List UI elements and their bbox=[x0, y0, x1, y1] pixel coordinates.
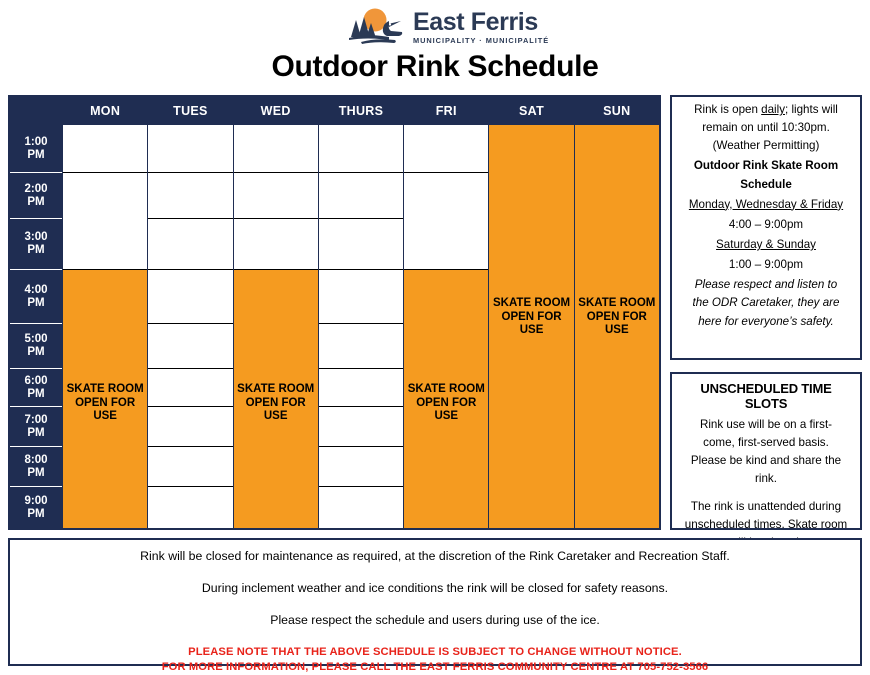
day-column-sun: SUN SKATE ROOM OPEN FOR USE bbox=[574, 97, 659, 528]
time-hour: 2:00 bbox=[24, 183, 47, 196]
time-period: PM bbox=[27, 427, 44, 440]
cell-sat-2pm[interactable] bbox=[489, 173, 573, 219]
cell-sun-5pm[interactable] bbox=[575, 324, 659, 369]
time-period: PM bbox=[27, 149, 44, 162]
time-period: PM bbox=[27, 508, 44, 521]
cell-sat-8pm[interactable] bbox=[489, 447, 573, 487]
day-column-tues: TUES bbox=[147, 97, 232, 528]
footer-note-2: During inclement weather and ice conditi… bbox=[10, 581, 860, 595]
cell-mon-9pm[interactable] bbox=[63, 487, 147, 528]
cell-thurs-2pm[interactable] bbox=[319, 173, 403, 219]
main-content: 1:00 PM 2:00 PM 3:00 PM 4:00 PM 5:00 PM … bbox=[0, 90, 870, 535]
time-slot-2pm: 2:00 PM bbox=[10, 173, 62, 219]
cell-sun-2pm[interactable] bbox=[575, 173, 659, 219]
day-column-sat: SAT SKATE ROOM OPEN FOR USE bbox=[488, 97, 573, 528]
caretaker-note-3: here for everyone’s safety. bbox=[680, 315, 852, 329]
time-hour: 5:00 bbox=[24, 333, 47, 346]
schedule-grid: 1:00 PM 2:00 PM 3:00 PM 4:00 PM 5:00 PM … bbox=[8, 95, 661, 530]
unscheduled-panel-title: UNSCHEDULED TIME SLOTS bbox=[680, 381, 852, 411]
cell-thurs-1pm[interactable] bbox=[319, 125, 403, 173]
day-header-sat: SAT bbox=[489, 97, 573, 125]
cell-wed-4pm[interactable] bbox=[234, 270, 318, 324]
cell-wed-6pm[interactable] bbox=[234, 369, 318, 407]
cell-fri-4pm[interactable] bbox=[404, 270, 488, 324]
cell-tues-4pm[interactable] bbox=[148, 270, 232, 324]
cell-wed-7pm[interactable] bbox=[234, 407, 318, 447]
cell-wed-9pm[interactable] bbox=[234, 487, 318, 528]
cell-sat-7pm[interactable] bbox=[489, 407, 573, 447]
cell-wed-3pm[interactable] bbox=[234, 219, 318, 270]
unscheduled-p2-l1: The rink is unattended during bbox=[680, 500, 852, 514]
day-body-fri: SKATE ROOM OPEN FOR USE bbox=[404, 125, 488, 528]
unscheduled-p1-l2: come, first-served basis. bbox=[680, 436, 852, 450]
time-slot-5pm: 5:00 PM bbox=[10, 324, 62, 369]
logo-wordmark: East Ferris MUNICIPALITY · MUNICIPALITÉ bbox=[413, 10, 549, 44]
cell-thurs-6pm[interactable] bbox=[319, 369, 403, 407]
time-hour: 1:00 bbox=[24, 136, 47, 149]
day-body-thurs bbox=[319, 125, 403, 528]
cell-thurs-5pm[interactable] bbox=[319, 324, 403, 369]
hours-line-3: (Weather Permitting) bbox=[680, 139, 852, 153]
caretaker-note-2: the ODR Caretaker, they are bbox=[680, 296, 852, 310]
cell-sat-1pm[interactable] bbox=[489, 125, 573, 173]
day-header-tues: TUES bbox=[148, 97, 232, 125]
cell-thurs-7pm[interactable] bbox=[319, 407, 403, 447]
time-slot-7pm: 7:00 PM bbox=[10, 407, 62, 447]
cell-wed-8pm[interactable] bbox=[234, 447, 318, 487]
day-body-mon: SKATE ROOM OPEN FOR USE bbox=[63, 125, 147, 528]
time-hour: 7:00 bbox=[24, 414, 47, 427]
day-body-tues bbox=[148, 125, 232, 528]
cell-mon-6pm[interactable] bbox=[63, 369, 147, 407]
cell-mon-4pm[interactable] bbox=[63, 270, 147, 324]
cell-tues-1pm[interactable] bbox=[148, 125, 232, 173]
day-header-fri: FRI bbox=[404, 97, 488, 125]
unscheduled-p1-l4: rink. bbox=[680, 472, 852, 486]
cell-tues-7pm[interactable] bbox=[148, 407, 232, 447]
time-hour: 4:00 bbox=[24, 284, 47, 297]
page-header: East Ferris MUNICIPALITY · MUNICIPALITÉ … bbox=[0, 0, 870, 90]
cell-fri-8pm[interactable] bbox=[404, 447, 488, 487]
weekend-times: 1:00 – 9:00pm bbox=[680, 258, 852, 272]
cell-mon-1pm[interactable] bbox=[63, 125, 147, 173]
cell-mon-8pm[interactable] bbox=[63, 447, 147, 487]
footer-alert-line-1: PLEASE NOTE THAT THE ABOVE SCHEDULE IS S… bbox=[10, 645, 860, 660]
cell-sun-7pm[interactable] bbox=[575, 407, 659, 447]
time-slot-6pm: 6:00 PM bbox=[10, 369, 62, 407]
cell-sun-4pm[interactable] bbox=[575, 270, 659, 324]
cell-thurs-4pm[interactable] bbox=[319, 270, 403, 324]
day-column-wed: WED SKATE ROOM OPEN FOR USE bbox=[233, 97, 318, 528]
time-hour: 6:00 bbox=[24, 375, 47, 388]
cell-sun-3pm[interactable] bbox=[575, 219, 659, 270]
cell-wed-2pm[interactable] bbox=[234, 173, 318, 219]
cell-sun-1pm[interactable] bbox=[575, 125, 659, 173]
hours-line-1: Rink is open daily; lights will bbox=[680, 103, 852, 117]
time-period: PM bbox=[27, 388, 44, 401]
east-ferris-logo: East Ferris MUNICIPALITY · MUNICIPALITÉ bbox=[345, 6, 549, 48]
cell-fri-7pm[interactable] bbox=[404, 407, 488, 447]
time-slot-1pm: 1:00 PM bbox=[10, 125, 62, 173]
time-hour: 8:00 bbox=[24, 454, 47, 467]
cell-tues-3pm[interactable] bbox=[148, 219, 232, 270]
panel-spacer bbox=[680, 493, 852, 500]
cell-fri-2pm[interactable] bbox=[404, 173, 488, 219]
mwf-days-label: Monday, Wednesday & Friday bbox=[680, 198, 852, 212]
hours-line-2: remain on until 10:30pm. bbox=[680, 121, 852, 135]
time-slot-9pm: 9:00 PM bbox=[10, 487, 62, 528]
footer-note-3: Please respect the schedule and users du… bbox=[10, 613, 860, 627]
time-hour: 9:00 bbox=[24, 495, 47, 508]
skate-room-subtitle-1: Outdoor Rink Skate Room bbox=[680, 159, 852, 173]
time-period: PM bbox=[27, 297, 44, 310]
logo-name: East Ferris bbox=[413, 10, 549, 35]
cell-tues-9pm[interactable] bbox=[148, 487, 232, 528]
cell-tues-5pm[interactable] bbox=[148, 324, 232, 369]
weekend-days-label: Saturday & Sunday bbox=[680, 238, 852, 252]
time-slot-8pm: 8:00 PM bbox=[10, 447, 62, 487]
time-period: PM bbox=[27, 196, 44, 209]
loon-sun-trees-logo-icon bbox=[345, 7, 407, 47]
cell-tues-2pm[interactable] bbox=[148, 173, 232, 219]
logo-subtitle: MUNICIPALITY · MUNICIPALITÉ bbox=[413, 37, 549, 44]
cell-thurs-8pm[interactable] bbox=[319, 447, 403, 487]
cell-sat-5pm[interactable] bbox=[489, 324, 573, 369]
grid-corner-cell bbox=[10, 97, 62, 125]
rink-hours-panel: Rink is open daily; lights will remain o… bbox=[670, 95, 862, 360]
cell-fri-6pm[interactable] bbox=[404, 369, 488, 407]
cell-sun-8pm[interactable] bbox=[575, 447, 659, 487]
cell-wed-5pm[interactable] bbox=[234, 324, 318, 369]
day-header-sun: SUN bbox=[575, 97, 659, 125]
cell-mon-2pm[interactable] bbox=[63, 173, 147, 219]
cell-thurs-9pm[interactable] bbox=[319, 487, 403, 528]
page-title: Outdoor Rink Schedule bbox=[0, 50, 870, 84]
cell-mon-3pm[interactable] bbox=[63, 219, 147, 270]
footer-note-1: Rink will be closed for maintenance as r… bbox=[10, 549, 860, 563]
cell-fri-3pm[interactable] bbox=[404, 219, 488, 270]
cell-sat-6pm[interactable] bbox=[489, 369, 573, 407]
caretaker-note-1: Please respect and listen to bbox=[680, 278, 852, 292]
time-hour: 3:00 bbox=[24, 231, 47, 244]
day-header-thurs: THURS bbox=[319, 97, 403, 125]
footer-notes-panel: Rink will be closed for maintenance as r… bbox=[8, 538, 862, 666]
hours-line-1-b: ; lights will bbox=[785, 103, 838, 116]
day-column-mon: MON SKATE ROOM OPEN FOR USE bbox=[62, 97, 147, 528]
time-period: PM bbox=[27, 244, 44, 257]
day-header-mon: MON bbox=[63, 97, 147, 125]
time-slot-3pm: 3:00 PM bbox=[10, 219, 62, 270]
day-column-fri: FRI SKATE ROOM OPEN FOR USE bbox=[403, 97, 488, 528]
cell-thurs-3pm[interactable] bbox=[319, 219, 403, 270]
time-column: 1:00 PM 2:00 PM 3:00 PM 4:00 PM 5:00 PM … bbox=[10, 97, 62, 528]
time-slot-4pm: 4:00 PM bbox=[10, 270, 62, 324]
day-body-sun: SKATE ROOM OPEN FOR USE bbox=[575, 125, 659, 528]
unscheduled-p2-l2: unscheduled times. Skate room bbox=[680, 518, 852, 532]
cell-fri-5pm[interactable] bbox=[404, 324, 488, 369]
cell-sun-6pm[interactable] bbox=[575, 369, 659, 407]
hours-line-1-a: Rink is open bbox=[694, 103, 761, 116]
cell-mon-5pm[interactable] bbox=[63, 324, 147, 369]
cell-sat-3pm[interactable] bbox=[489, 219, 573, 270]
cell-fri-9pm[interactable] bbox=[404, 487, 488, 528]
cell-sat-9pm[interactable] bbox=[489, 487, 573, 528]
cell-wed-1pm[interactable] bbox=[234, 125, 318, 173]
unscheduled-p1-l3: Please be kind and share the bbox=[680, 454, 852, 468]
skate-room-subtitle-2: Schedule bbox=[680, 178, 852, 192]
time-period: PM bbox=[27, 467, 44, 480]
unscheduled-p1-l1: Rink use will be on a first- bbox=[680, 418, 852, 432]
cell-mon-7pm[interactable] bbox=[63, 407, 147, 447]
cell-tues-6pm[interactable] bbox=[148, 369, 232, 407]
cell-tues-8pm[interactable] bbox=[148, 447, 232, 487]
time-period: PM bbox=[27, 346, 44, 359]
day-body-wed: SKATE ROOM OPEN FOR USE bbox=[234, 125, 318, 528]
hours-daily-word: daily bbox=[761, 103, 785, 116]
day-body-sat: SKATE ROOM OPEN FOR USE bbox=[489, 125, 573, 528]
cell-sun-9pm[interactable] bbox=[575, 487, 659, 528]
cell-sat-4pm[interactable] bbox=[489, 270, 573, 324]
day-column-thurs: THURS bbox=[318, 97, 403, 528]
cell-fri-1pm[interactable] bbox=[404, 125, 488, 173]
day-header-wed: WED bbox=[234, 97, 318, 125]
unscheduled-slots-panel: UNSCHEDULED TIME SLOTS Rink use will be … bbox=[670, 372, 862, 530]
mwf-times: 4:00 – 9:00pm bbox=[680, 218, 852, 232]
